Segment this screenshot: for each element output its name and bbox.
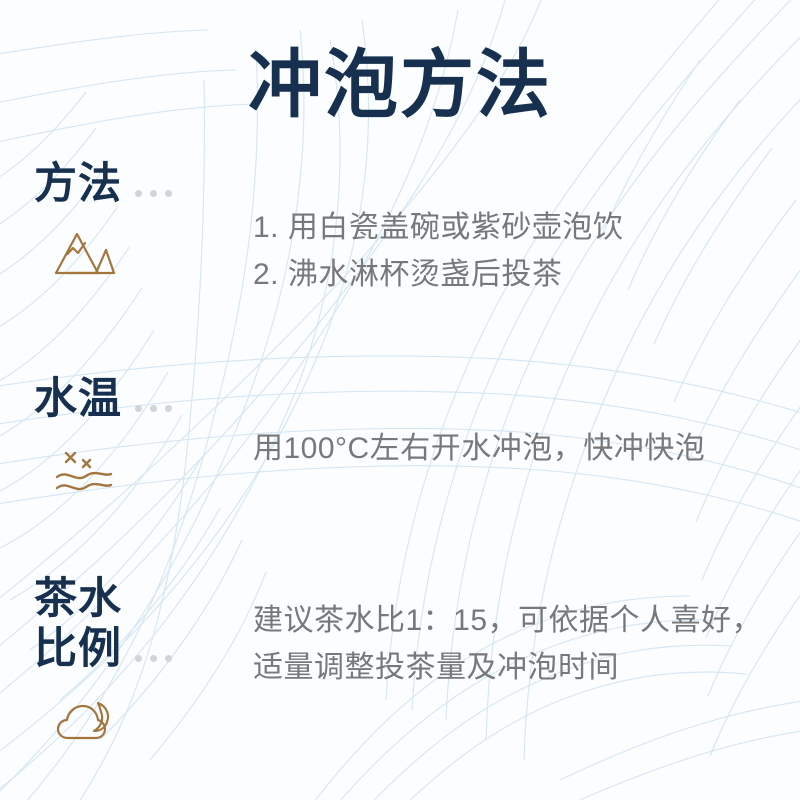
- page-title: 冲泡方法: [0, 42, 800, 130]
- section-method-label: 方法: [34, 160, 122, 210]
- mountain-icon: [54, 228, 229, 281]
- brewing-method-poster: 冲泡方法 方法 1. 用白瓷盖碗或紫砂壶泡饮 2. 沸水淋杯烫盏后投茶: [0, 0, 800, 800]
- section-tea-water-ratio-label-line-2: 比例: [34, 625, 122, 675]
- section-tea-water-ratio-label-row-2: 比例: [34, 625, 229, 675]
- section-tea-water-ratio-body: 建议茶水比1：15，可依据个人喜好，适量调整投茶量及冲泡时间: [253, 597, 783, 691]
- section-water-temperature-dots: [135, 405, 172, 412]
- section-method-label-column: 方法: [34, 160, 229, 281]
- section-method-label-row: 方法: [34, 160, 229, 210]
- section-method-dots: [135, 190, 172, 197]
- section-tea-water-ratio-label-line-1: 茶水: [34, 575, 122, 625]
- water-waves-icon: [54, 443, 229, 500]
- section-method-body-line-1: 1. 用白瓷盖碗或紫砂壶泡饮: [253, 204, 783, 251]
- section-tea-water-ratio-dots: [135, 655, 172, 662]
- section-water-temperature-body-line-1: 用100°C左右开水冲泡，快冲快泡: [253, 425, 783, 472]
- cloud-moon-icon: [56, 697, 229, 750]
- section-tea-water-ratio-body-line-1: 建议茶水比1：15，可依据个人喜好，适量调整投茶量及冲泡时间: [253, 597, 783, 691]
- section-water-temperature-label-column: 水温: [34, 375, 229, 500]
- section-tea-water-ratio-label-row-1: 茶水: [34, 575, 229, 625]
- section-method-body: 1. 用白瓷盖碗或紫砂壶泡饮 2. 沸水淋杯烫盏后投茶: [253, 204, 783, 298]
- section-water-temperature-body: 用100°C左右开水冲泡，快冲快泡: [253, 425, 783, 472]
- section-water-temperature-label-row: 水温: [34, 375, 229, 425]
- section-water-temperature-label: 水温: [34, 375, 122, 425]
- section-method-body-line-2: 2. 沸水淋杯烫盏后投茶: [253, 251, 783, 298]
- section-tea-water-ratio-label-column: 茶水 比例: [34, 575, 229, 750]
